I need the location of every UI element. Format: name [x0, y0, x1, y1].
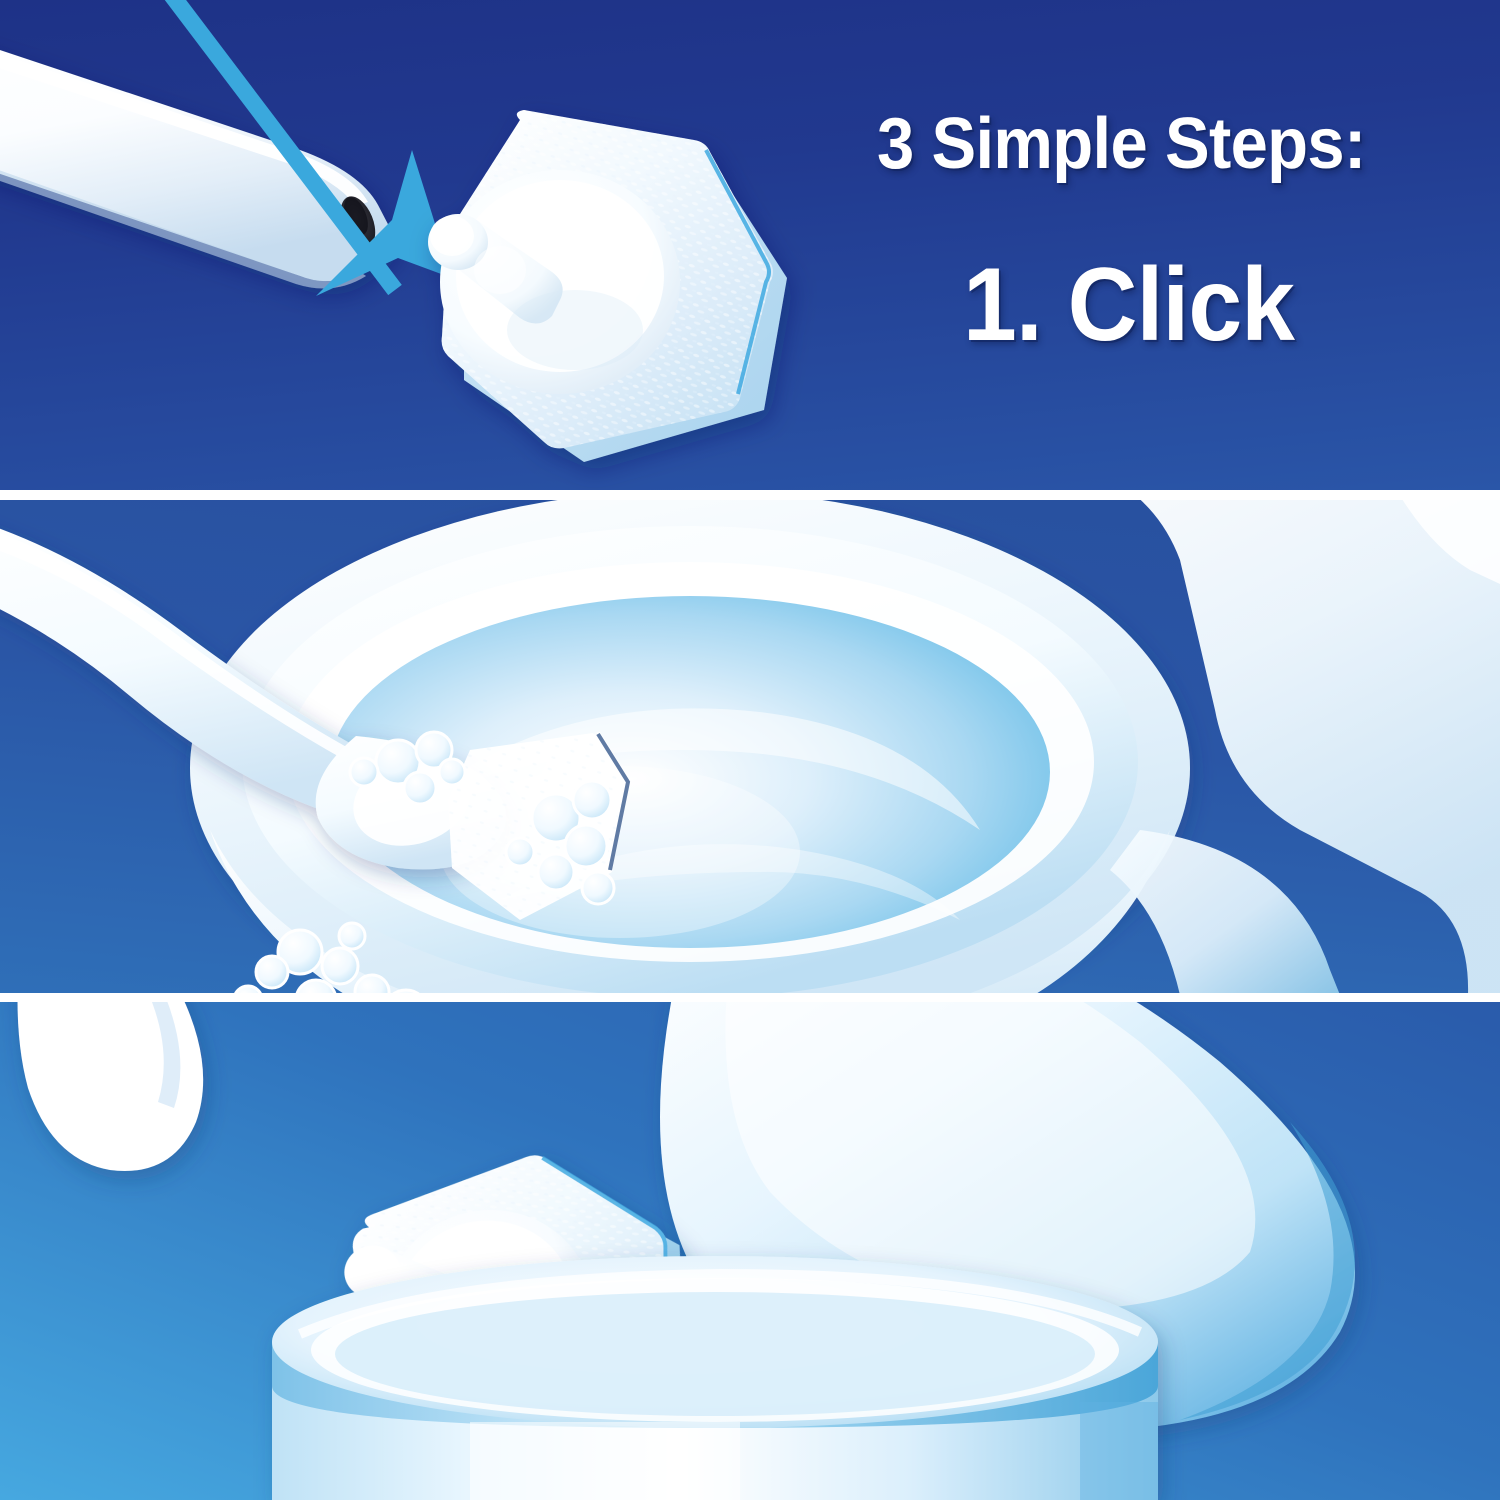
trash-can-icon — [272, 1256, 1158, 1500]
toilet-seat — [1110, 830, 1340, 995]
swish-illustration — [0, 500, 1500, 995]
panel-divider-1 — [0, 490, 1500, 500]
poster-heading: 3 Simple Steps: — [877, 108, 1366, 180]
click-illustration — [0, 0, 1500, 492]
step-label-click: 1. Click — [963, 253, 1294, 357]
panel-divider-2 — [0, 993, 1500, 1002]
toss-illustration — [0, 1002, 1500, 1500]
step-panel-swish: 2. Swish — [0, 500, 1500, 995]
hexagonal-cleaning-pad-icon — [428, 110, 787, 462]
three-simple-steps-poster: 3 Simple Steps: 1. Click — [0, 0, 1500, 1500]
cleaning-wand-icon — [17, 1002, 203, 1171]
step-panel-toss: 3. Toss — [0, 1002, 1500, 1500]
step-panel-click: 3 Simple Steps: 1. Click — [0, 0, 1500, 492]
